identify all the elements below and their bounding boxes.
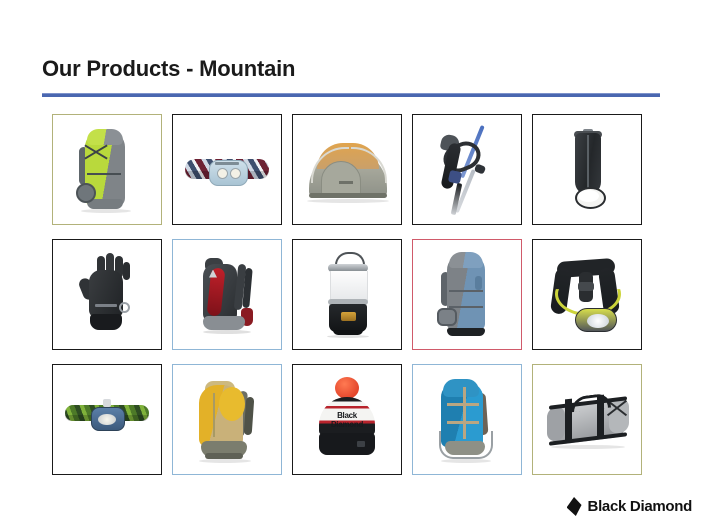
product-cell-green-headlamp[interactable] (52, 364, 162, 475)
slide: Our Products - Mountain (0, 0, 708, 532)
product-cell-black-glove[interactable] (52, 239, 162, 350)
footer-brand-logo: Black Diamond (567, 497, 692, 516)
yellow-backpack-image (179, 371, 275, 469)
product-cell-black-yellow-headlamp[interactable] (532, 239, 642, 350)
dome-tent-image (299, 121, 395, 219)
camping-lantern-image (299, 246, 395, 344)
product-cell-green-grey-expedition-backpack[interactable] (52, 114, 162, 225)
product-cell-blue-backpack[interactable] (412, 364, 522, 475)
blue-backpack-image (419, 371, 515, 469)
product-grid: Black Diamond (52, 114, 644, 475)
black-glove-image (59, 246, 155, 344)
product-cell-patterned-headlamp[interactable] (172, 114, 282, 225)
product-cell-grey-duffel-bag[interactable] (532, 364, 642, 475)
brand-name: Black Diamond (588, 498, 692, 515)
product-cell-yellow-backpack[interactable] (172, 364, 282, 475)
red-black-daypack-image (179, 246, 275, 344)
black-yellow-headlamp-image (539, 246, 635, 344)
patterned-headlamp-image (179, 121, 275, 219)
page-title: Our Products - Mountain (42, 56, 295, 82)
product-cell-beanie-hat[interactable]: Black Diamond (292, 364, 402, 475)
trekking-poles-image (419, 121, 515, 219)
product-cell-blue-grey-expedition-backpack[interactable] (412, 239, 522, 350)
blue-grey-expedition-backpack-image (419, 246, 515, 344)
product-cell-dome-tent[interactable] (292, 114, 402, 225)
product-cell-camping-lantern[interactable] (292, 239, 402, 350)
gaiter-image (539, 121, 635, 219)
beanie-brand-text: Black Diamond (321, 411, 373, 429)
grey-duffel-bag-image (539, 371, 635, 469)
title-divider (42, 93, 660, 97)
product-cell-trekking-poles[interactable] (412, 114, 522, 225)
diamond-icon (567, 497, 582, 516)
green-headlamp-image (59, 371, 155, 469)
product-cell-gaiter[interactable] (532, 114, 642, 225)
beanie-hat-image: Black Diamond (299, 371, 395, 469)
green-grey-expedition-backpack-image (59, 121, 155, 219)
product-cell-red-black-daypack[interactable] (172, 239, 282, 350)
